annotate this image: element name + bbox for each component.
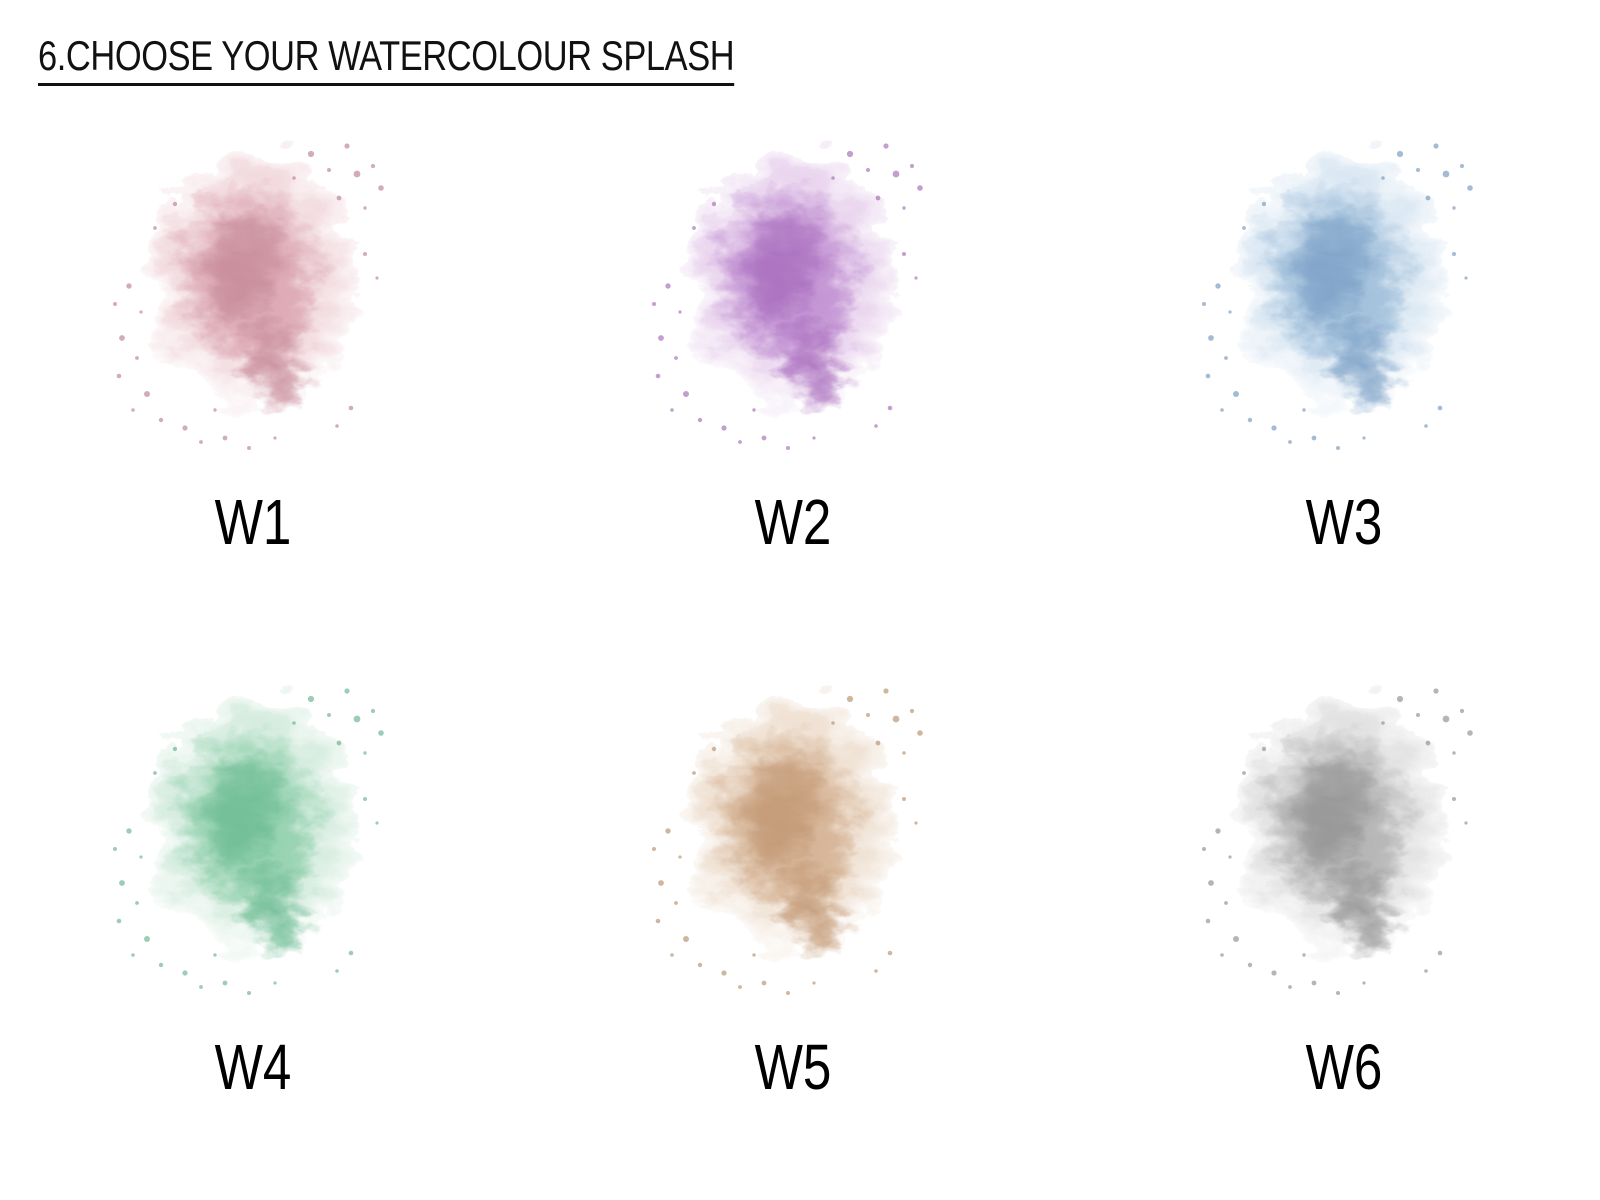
splash-svg-w1	[89, 108, 419, 468]
splash-svg-w4	[89, 653, 419, 1013]
watercolour-splash-icon[interactable]	[89, 108, 419, 468]
splash-svg-w2	[628, 108, 958, 468]
swatch-option-w1[interactable]: W1	[0, 100, 533, 645]
swatch-option-w4[interactable]: W4	[0, 645, 533, 1190]
watercolour-splash-icon[interactable]	[1178, 653, 1508, 1013]
swatch-label-w1: W1	[214, 490, 291, 554]
page-title: 6.CHOOSE YOUR WATERCOLOUR SPLASH	[38, 33, 734, 86]
watercolour-splash-icon[interactable]	[1178, 108, 1508, 468]
swatch-label-w4: W4	[214, 1035, 291, 1099]
splash-svg-w5	[628, 653, 958, 1013]
swatch-label-w5: W5	[755, 1035, 832, 1099]
swatch-label-w6: W6	[1306, 1035, 1383, 1099]
watercolour-splash-icon[interactable]	[89, 653, 419, 1013]
splash-svg-w6	[1178, 653, 1508, 1013]
swatch-label-w2: W2	[755, 490, 832, 554]
swatch-label-w3: W3	[1306, 490, 1383, 554]
swatch-option-w5[interactable]: W5	[533, 645, 1066, 1190]
swatch-option-w3[interactable]: W3	[1067, 100, 1600, 645]
swatch-option-w2[interactable]: W2	[533, 100, 1066, 645]
watercolour-splash-icon[interactable]	[628, 108, 958, 468]
splash-svg-w3	[1178, 108, 1508, 468]
swatch-grid: W1	[0, 100, 1600, 1190]
swatch-option-w6[interactable]: W6	[1067, 645, 1600, 1190]
watercolour-splash-icon[interactable]	[628, 653, 958, 1013]
